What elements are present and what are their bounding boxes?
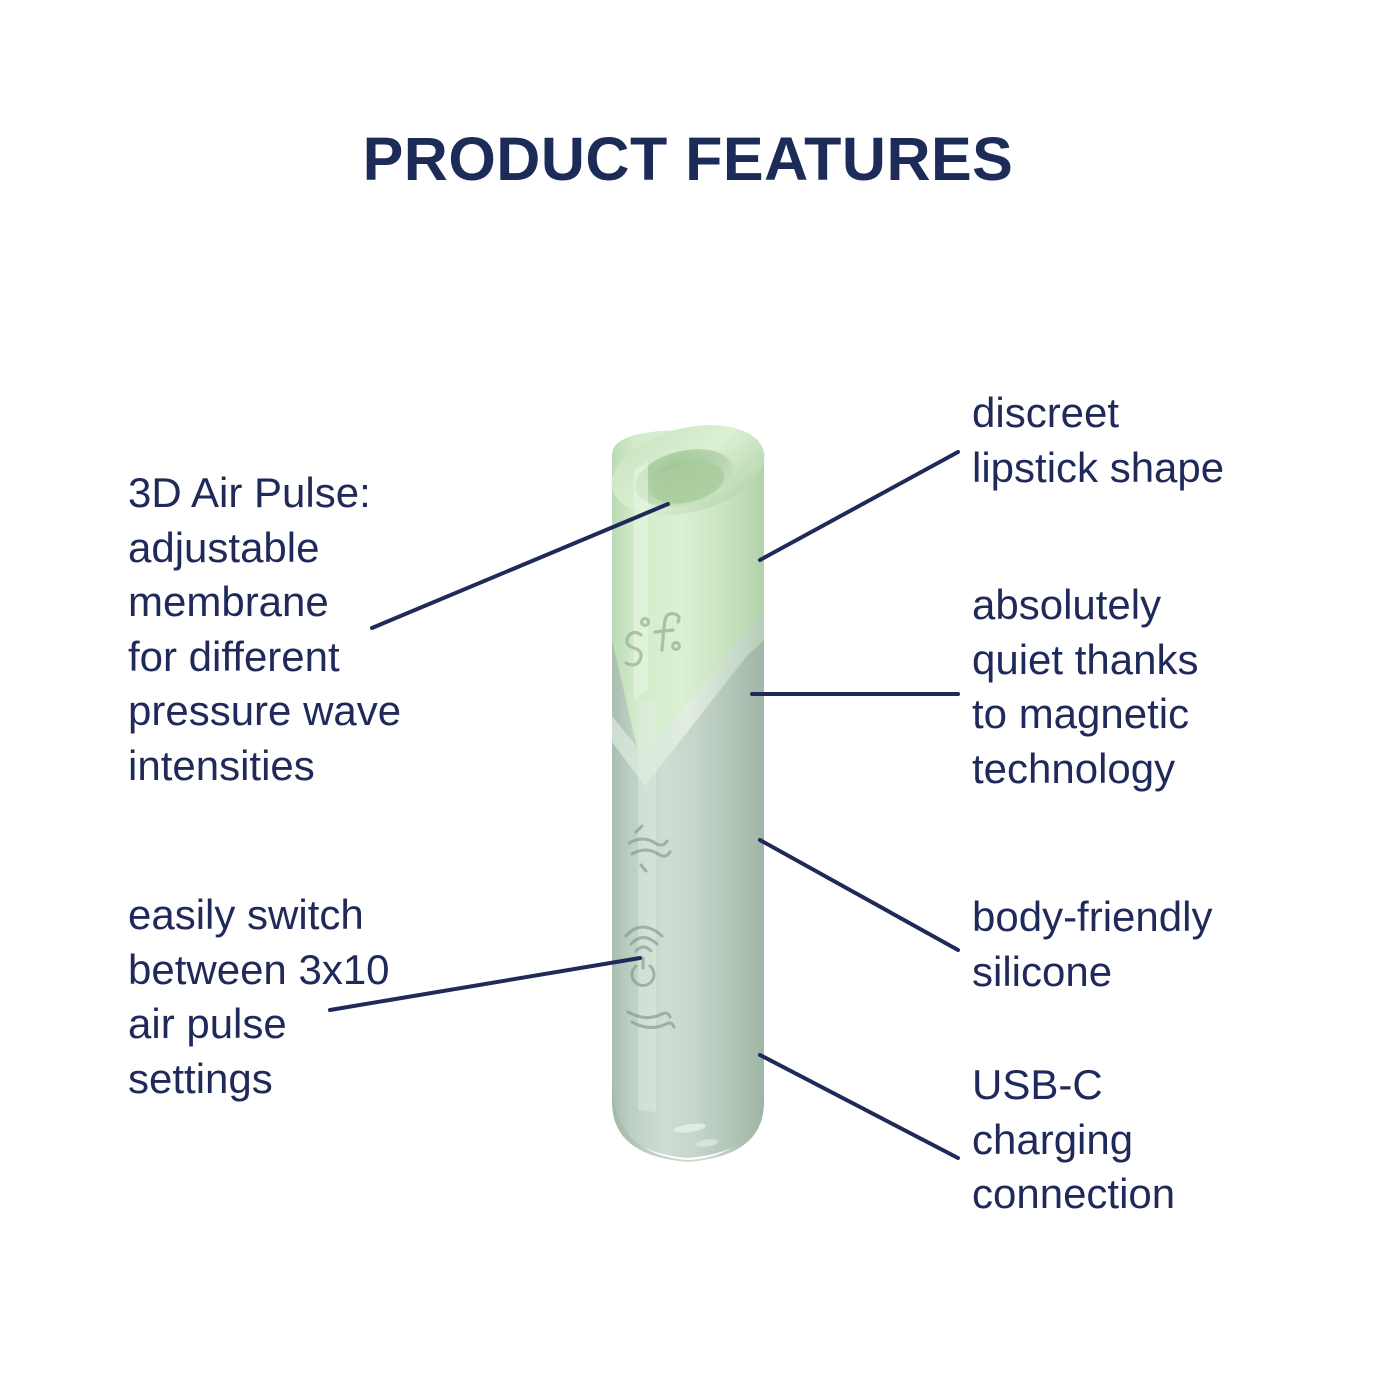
- product-features-infographic: PRODUCT FEATURES: [0, 0, 1376, 1376]
- leader-shape: [760, 452, 958, 560]
- callout-usb: USB-C charging connection: [972, 1058, 1312, 1222]
- callout-settings: easily switch between 3x10 air pulse set…: [128, 888, 468, 1106]
- callout-air-pulse: 3D Air Pulse: adjustable membrane for di…: [128, 466, 458, 794]
- leader-silicone: [760, 840, 958, 950]
- callout-silicone: body-friendly silicone: [972, 890, 1312, 999]
- callout-quiet: absolutely quiet thanks to magnetic tech…: [972, 578, 1302, 796]
- leader-usb: [760, 1055, 958, 1158]
- callout-shape: discreet lipstick shape: [972, 386, 1302, 495]
